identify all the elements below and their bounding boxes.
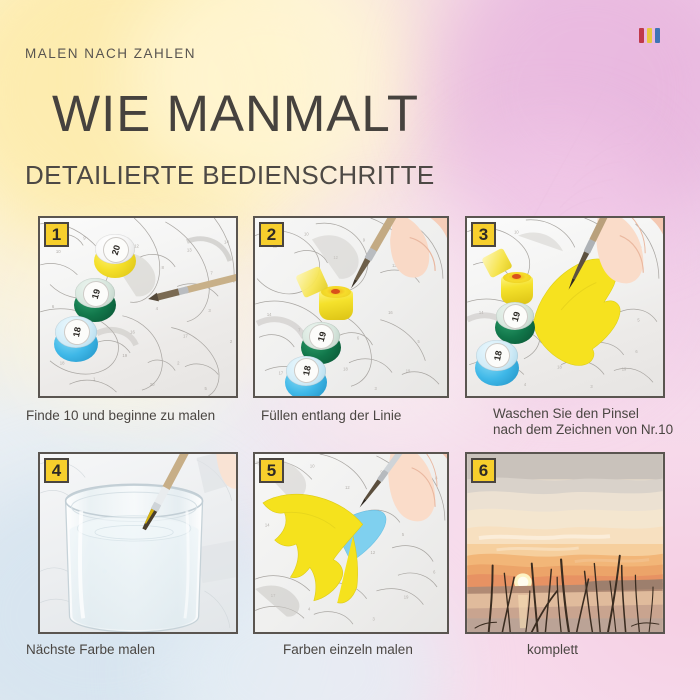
pot-number-19: 19 (315, 330, 327, 342)
step-image-5: 111012 9138 1457 17418 3196 12 (253, 452, 449, 634)
pot-number-19: 19 (90, 288, 102, 300)
pot-number-18: 18 (492, 350, 504, 362)
brand-bar-red (639, 28, 644, 43)
water-glass-icon (40, 454, 236, 632)
pot-number-19: 19 (509, 310, 521, 322)
step-badge-4: 4 (44, 458, 69, 483)
page-subtitle: DETAILIERTE BEDIENSCHRITTE (25, 160, 435, 191)
paint-pot-18: 18 (283, 356, 329, 398)
step-badge-3: 3 (471, 222, 496, 247)
step-card-1: 10911 12813 714 6155 16417 32 18119 2025 (38, 216, 238, 398)
step-card-3: 111013 8147 5174 18319 26 (465, 216, 665, 398)
step-caption-1: Finde 10 und beginne zu malen (26, 408, 256, 423)
step-card-4: 4 Nächste Farbe malen (38, 452, 238, 634)
poster-root: MALEN NACH ZAHLEN WIE MANMALT DETAILIERT… (0, 0, 700, 700)
step-badge-6: 6 (471, 458, 496, 483)
pot-number-20: 20 (110, 244, 122, 256)
step-caption-4: Nächste Farbe malen (26, 642, 256, 657)
step-badge-1: 1 (44, 222, 69, 247)
brand-mark-icon (639, 28, 660, 43)
step-image-1: 10911 12813 714 6155 16417 32 18119 2025 (38, 216, 238, 398)
step-badge-2: 2 (259, 222, 284, 247)
paint-pot-20: 20 (92, 234, 138, 278)
step-caption-3: Waschen Sie den Pinsel nach dem Zeichnen… (493, 406, 700, 438)
step-caption-6: komplett (527, 642, 700, 657)
brand-bar-yellow (647, 28, 652, 43)
step-card-2: 111012 9138 14715 6165 17418 319 (253, 216, 449, 398)
paint-pot-18: 18 (52, 316, 100, 362)
page-title: WIE MANMALT (52, 84, 419, 143)
eyebrow-text: MALEN NACH ZAHLEN (25, 46, 196, 61)
paint-brush-icon (40, 218, 236, 396)
step-image-6: 6 (465, 452, 665, 634)
paint-pot-19: 19 (493, 302, 537, 344)
finished-painting-icon (467, 454, 663, 632)
step-badge-5: 5 (259, 458, 284, 483)
pot-number-18: 18 (301, 365, 313, 377)
brand-bar-blue (655, 28, 660, 43)
step-caption-5: Farben einzeln malen (283, 642, 513, 657)
paint-pot-18: 18 (473, 340, 521, 386)
step-image-3: 111013 8147 5174 18319 26 (465, 216, 665, 398)
step-card-6: 6 komplett (465, 452, 665, 634)
paint-pot-yellow-open (501, 270, 533, 304)
step-image-2: 111012 9138 14715 6165 17418 319 (253, 216, 449, 398)
step-card-5: 111012 9138 1457 17418 3196 12 (253, 452, 449, 634)
step-caption-2: Füllen entlang der Linie (261, 408, 491, 423)
step-image-4: 4 (38, 452, 238, 634)
pot-number-18: 18 (71, 326, 83, 338)
